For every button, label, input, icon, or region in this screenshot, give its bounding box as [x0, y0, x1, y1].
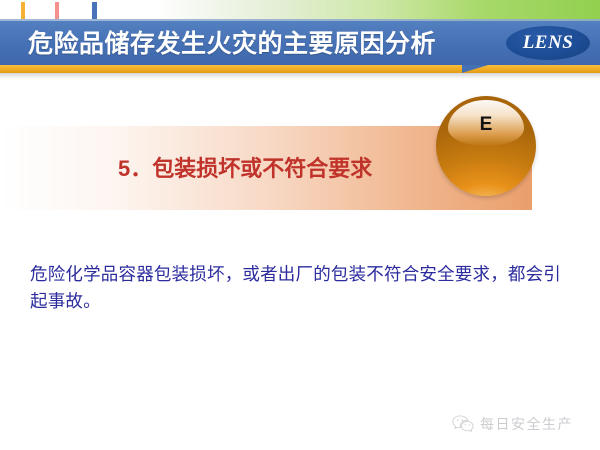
- top-decor-strip: [0, 0, 600, 21]
- title-underline-rule: [0, 65, 600, 73]
- title-underline-shadow: [0, 73, 600, 79]
- body-paragraph: 危险化学品容器包装损坏，或者出厂的包装不符合安全要求，都会引起事故。: [30, 261, 578, 315]
- section-marker-label: E: [436, 112, 536, 138]
- decor-tick-blue: [92, 2, 97, 19]
- lens-logo: LENS: [506, 26, 590, 60]
- section-marker-sphere: E: [436, 96, 536, 196]
- watermark-text: 每日安全生产: [480, 414, 573, 434]
- footer-watermark: 每日安全生产: [452, 411, 584, 437]
- lens-logo-text: LENS: [506, 26, 590, 60]
- section-title: 5．包装损坏或不符合要求: [118, 152, 448, 186]
- decor-tick-orange: [21, 2, 25, 19]
- page-title: 危险品储存发生火灾的主要原因分析: [28, 24, 478, 64]
- slide-canvas: 危险品储存发生火灾的主要原因分析 LENS E 5．包装损坏或不符合要求 危险化…: [0, 0, 600, 450]
- decor-tick-pink: [55, 2, 59, 19]
- wechat-icon: [452, 414, 474, 434]
